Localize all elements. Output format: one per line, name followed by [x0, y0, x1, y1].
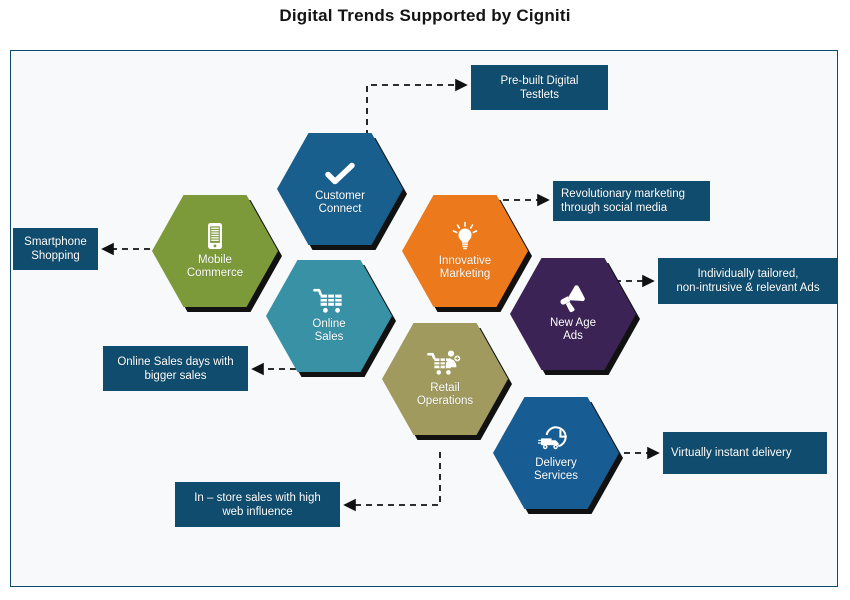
callout-text: Revolutionary marketing through social m…: [561, 187, 685, 215]
hex-label: Customer Connect: [315, 190, 365, 217]
callout-online-sales-days[interactable]: Online Sales days with bigger sales: [103, 346, 248, 391]
callout-in-store-sales[interactable]: In – store sales with high web influence: [175, 482, 340, 527]
check-icon: [325, 162, 355, 186]
hex-label: New Age Ads: [550, 317, 596, 344]
callout-text: Virtually instant delivery: [671, 446, 792, 460]
callout-text: Individually tailored, non-intrusive & r…: [666, 267, 830, 295]
shopping-cart-icon: [313, 288, 345, 314]
hex-node-online-sales[interactable]: Online Sales: [266, 260, 392, 372]
hex-label: Online Sales: [312, 318, 345, 345]
hex-label: Retail Operations: [417, 382, 473, 409]
hex-label: Innovative Marketing: [439, 255, 491, 282]
hex-node-delivery-services[interactable]: Delivery Services: [493, 397, 619, 509]
lightbulb-icon: [450, 221, 480, 251]
callout-revolutionary-marketing[interactable]: Revolutionary marketing through social m…: [553, 181, 710, 221]
callout-smartphone-shopping[interactable]: Smartphone Shopping: [13, 228, 98, 270]
hex-node-retail-operations[interactable]: Retail Operations: [382, 323, 508, 435]
connector-retail-operations: [345, 452, 440, 505]
cart-person-icon: [427, 350, 463, 378]
delivery-truck-clock-icon: [538, 423, 574, 453]
hex-node-new-age-ads[interactable]: New Age Ads: [510, 258, 636, 370]
mobile-phone-icon: [205, 222, 225, 250]
callout-virtually-instant-delivery[interactable]: Virtually instant delivery: [663, 432, 827, 474]
callout-text: Smartphone Shopping: [21, 235, 90, 263]
diagram-canvas: Customer Connect: [0, 0, 850, 600]
callout-text: In – store sales with high web influence: [183, 491, 332, 519]
callout-text: Online Sales days with bigger sales: [111, 355, 240, 383]
callout-text: Pre-built Digital Testlets: [479, 74, 600, 102]
hex-node-customer-connect[interactable]: Customer Connect: [277, 133, 403, 245]
callout-individually-tailored-ads[interactable]: Individually tailored, non-intrusive & r…: [658, 258, 838, 304]
hex-label: Delivery Services: [534, 457, 578, 484]
hex-node-mobile-commerce[interactable]: Mobile Commerce: [152, 195, 278, 307]
hex-label: Mobile Commerce: [187, 254, 243, 281]
megaphone-icon: [557, 285, 589, 313]
callout-pre-built-digital-testlets[interactable]: Pre-built Digital Testlets: [471, 65, 608, 110]
